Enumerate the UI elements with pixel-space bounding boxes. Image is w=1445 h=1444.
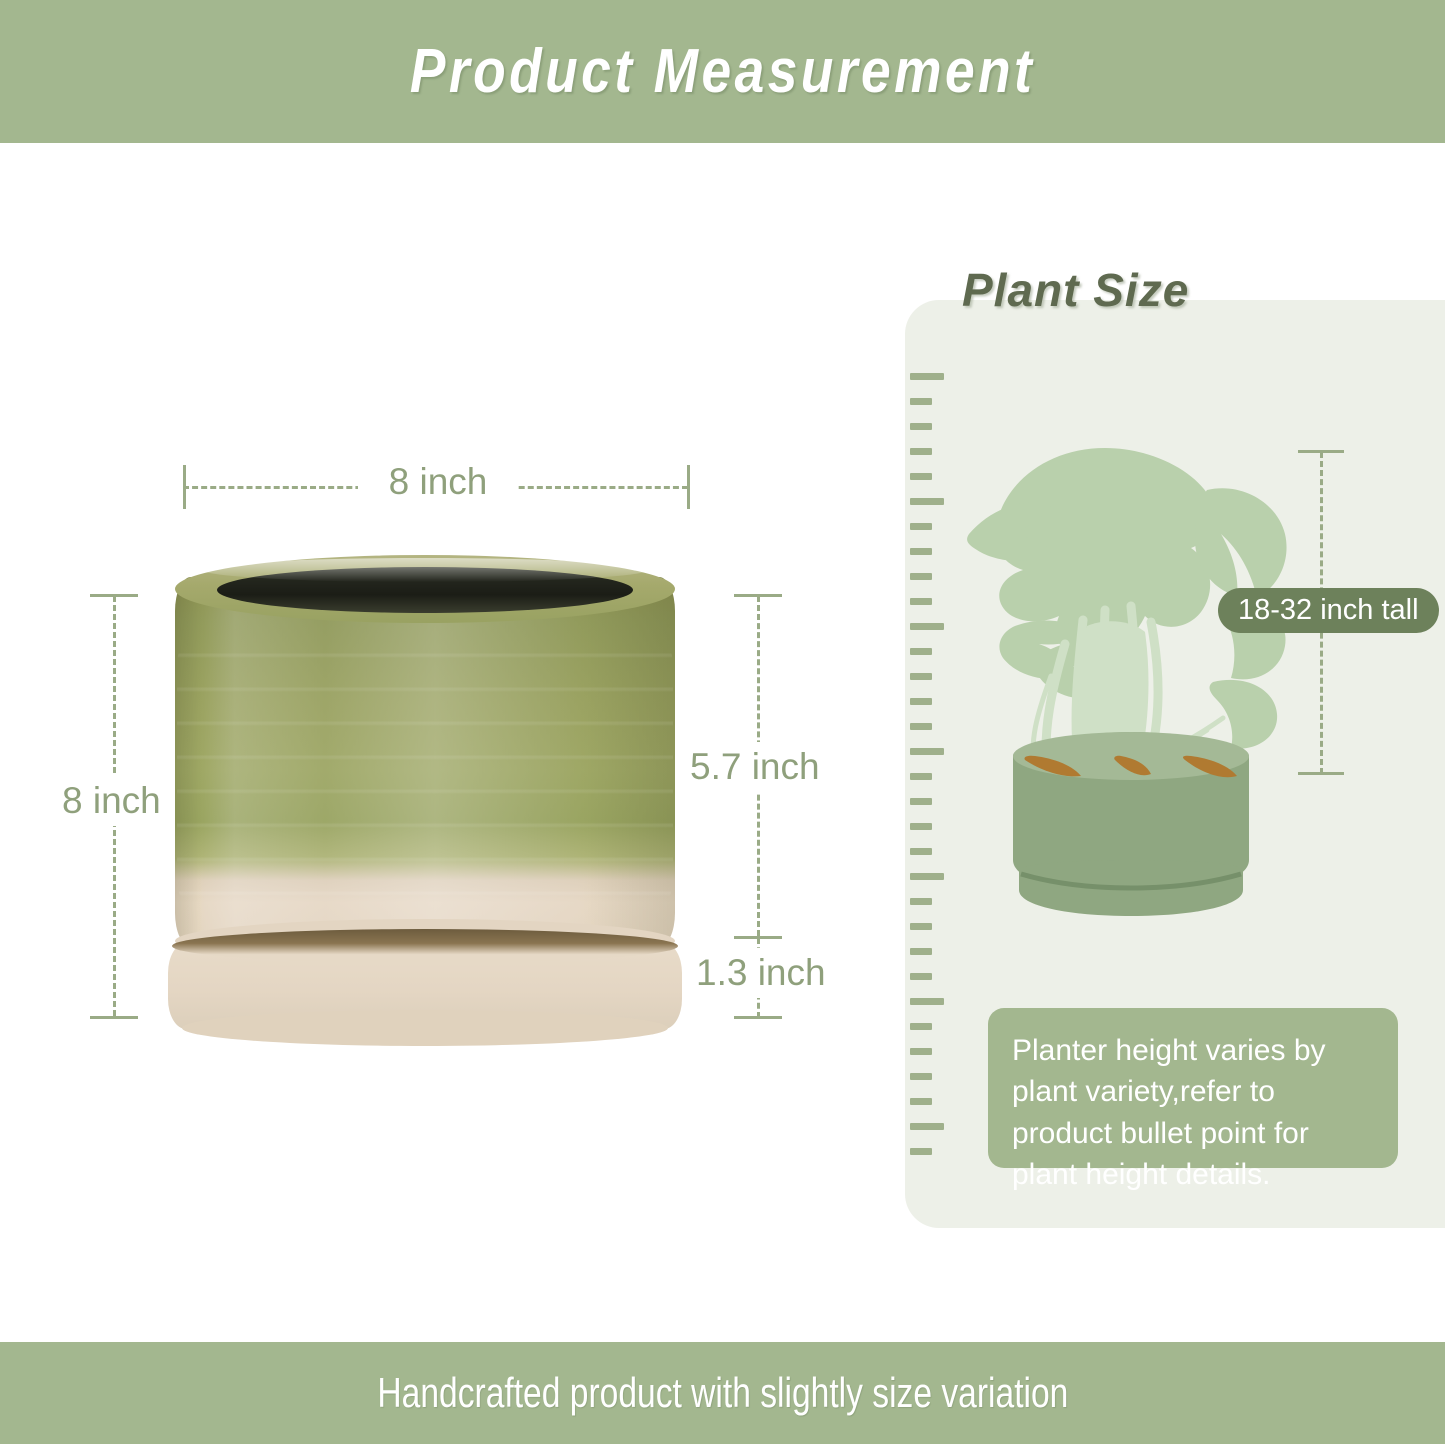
plant-height-ruler bbox=[910, 373, 950, 1173]
ruler-minor-tick bbox=[910, 1048, 932, 1055]
width-dimension-cap-right bbox=[687, 465, 690, 509]
ruler-minor-tick bbox=[910, 898, 932, 905]
plant-size-title: Plant Size bbox=[962, 263, 1189, 317]
ruler-minor-tick bbox=[910, 1098, 932, 1105]
width-dimension-cap-left bbox=[183, 465, 186, 509]
pot-height-cap-top bbox=[734, 594, 782, 597]
ruler-minor-tick bbox=[910, 598, 932, 605]
saucer-base bbox=[182, 1010, 668, 1046]
ruler-minor-tick bbox=[910, 1148, 932, 1155]
ruler-minor-tick bbox=[910, 823, 932, 830]
ruler-major-tick bbox=[910, 373, 944, 380]
ruler-minor-tick bbox=[910, 648, 932, 655]
ruler-major-tick bbox=[910, 748, 944, 755]
ruler-minor-tick bbox=[910, 473, 932, 480]
plant-height-badge: 18-32 inch tall bbox=[1218, 588, 1439, 633]
saucer-height-cap-bottom bbox=[734, 1016, 782, 1019]
product-saucer-image bbox=[168, 929, 682, 1044]
ruler-minor-tick bbox=[910, 923, 932, 930]
ruler-minor-tick bbox=[910, 423, 932, 430]
width-dimension-label: 8 inch bbox=[358, 461, 518, 503]
pot-rim-highlight bbox=[203, 558, 647, 582]
ruler-minor-tick bbox=[910, 848, 932, 855]
ruler-minor-tick bbox=[910, 798, 932, 805]
ruler-minor-tick bbox=[910, 673, 932, 680]
ruler-minor-tick bbox=[910, 773, 932, 780]
ruler-minor-tick bbox=[910, 973, 932, 980]
total-height-dimension-label: 8 inch bbox=[56, 776, 167, 826]
plant-illustration bbox=[955, 430, 1305, 950]
pot-height-dimension-label: 5.7 inch bbox=[684, 742, 826, 792]
total-height-cap-top bbox=[90, 594, 138, 597]
plant-height-note: Planter height varies by plant variety,r… bbox=[988, 1008, 1398, 1168]
ruler-major-tick bbox=[910, 623, 944, 630]
ruler-minor-tick bbox=[910, 523, 932, 530]
ruler-minor-tick bbox=[910, 723, 932, 730]
page-title: Product Measurement bbox=[410, 36, 1035, 107]
ruler-major-tick bbox=[910, 998, 944, 1005]
saucer-height-dimension-label: 1.3 inch bbox=[690, 948, 832, 998]
total-height-cap-bottom bbox=[90, 1016, 138, 1019]
ruler-minor-tick bbox=[910, 398, 932, 405]
ruler-minor-tick bbox=[910, 948, 932, 955]
ruler-minor-tick bbox=[910, 1073, 932, 1080]
ruler-major-tick bbox=[910, 873, 944, 880]
ruler-major-tick bbox=[910, 498, 944, 505]
saucer-lip bbox=[172, 929, 678, 963]
pot-body bbox=[175, 577, 675, 947]
header-band: Product Measurement bbox=[0, 0, 1445, 143]
footer-note: Handcrafted product with slightly size v… bbox=[377, 1369, 1068, 1417]
product-pot-image bbox=[175, 555, 675, 955]
ruler-minor-tick bbox=[910, 573, 932, 580]
ruler-minor-tick bbox=[910, 448, 932, 455]
pot-glaze-rings bbox=[177, 637, 673, 907]
ruler-minor-tick bbox=[910, 548, 932, 555]
plant-height-cap-top bbox=[1298, 450, 1344, 453]
ruler-minor-tick bbox=[910, 1023, 932, 1030]
ruler-minor-tick bbox=[910, 698, 932, 705]
plant-height-cap-bottom bbox=[1298, 772, 1344, 775]
ruler-major-tick bbox=[910, 1123, 944, 1130]
footer-band: Handcrafted product with slightly size v… bbox=[0, 1342, 1445, 1444]
